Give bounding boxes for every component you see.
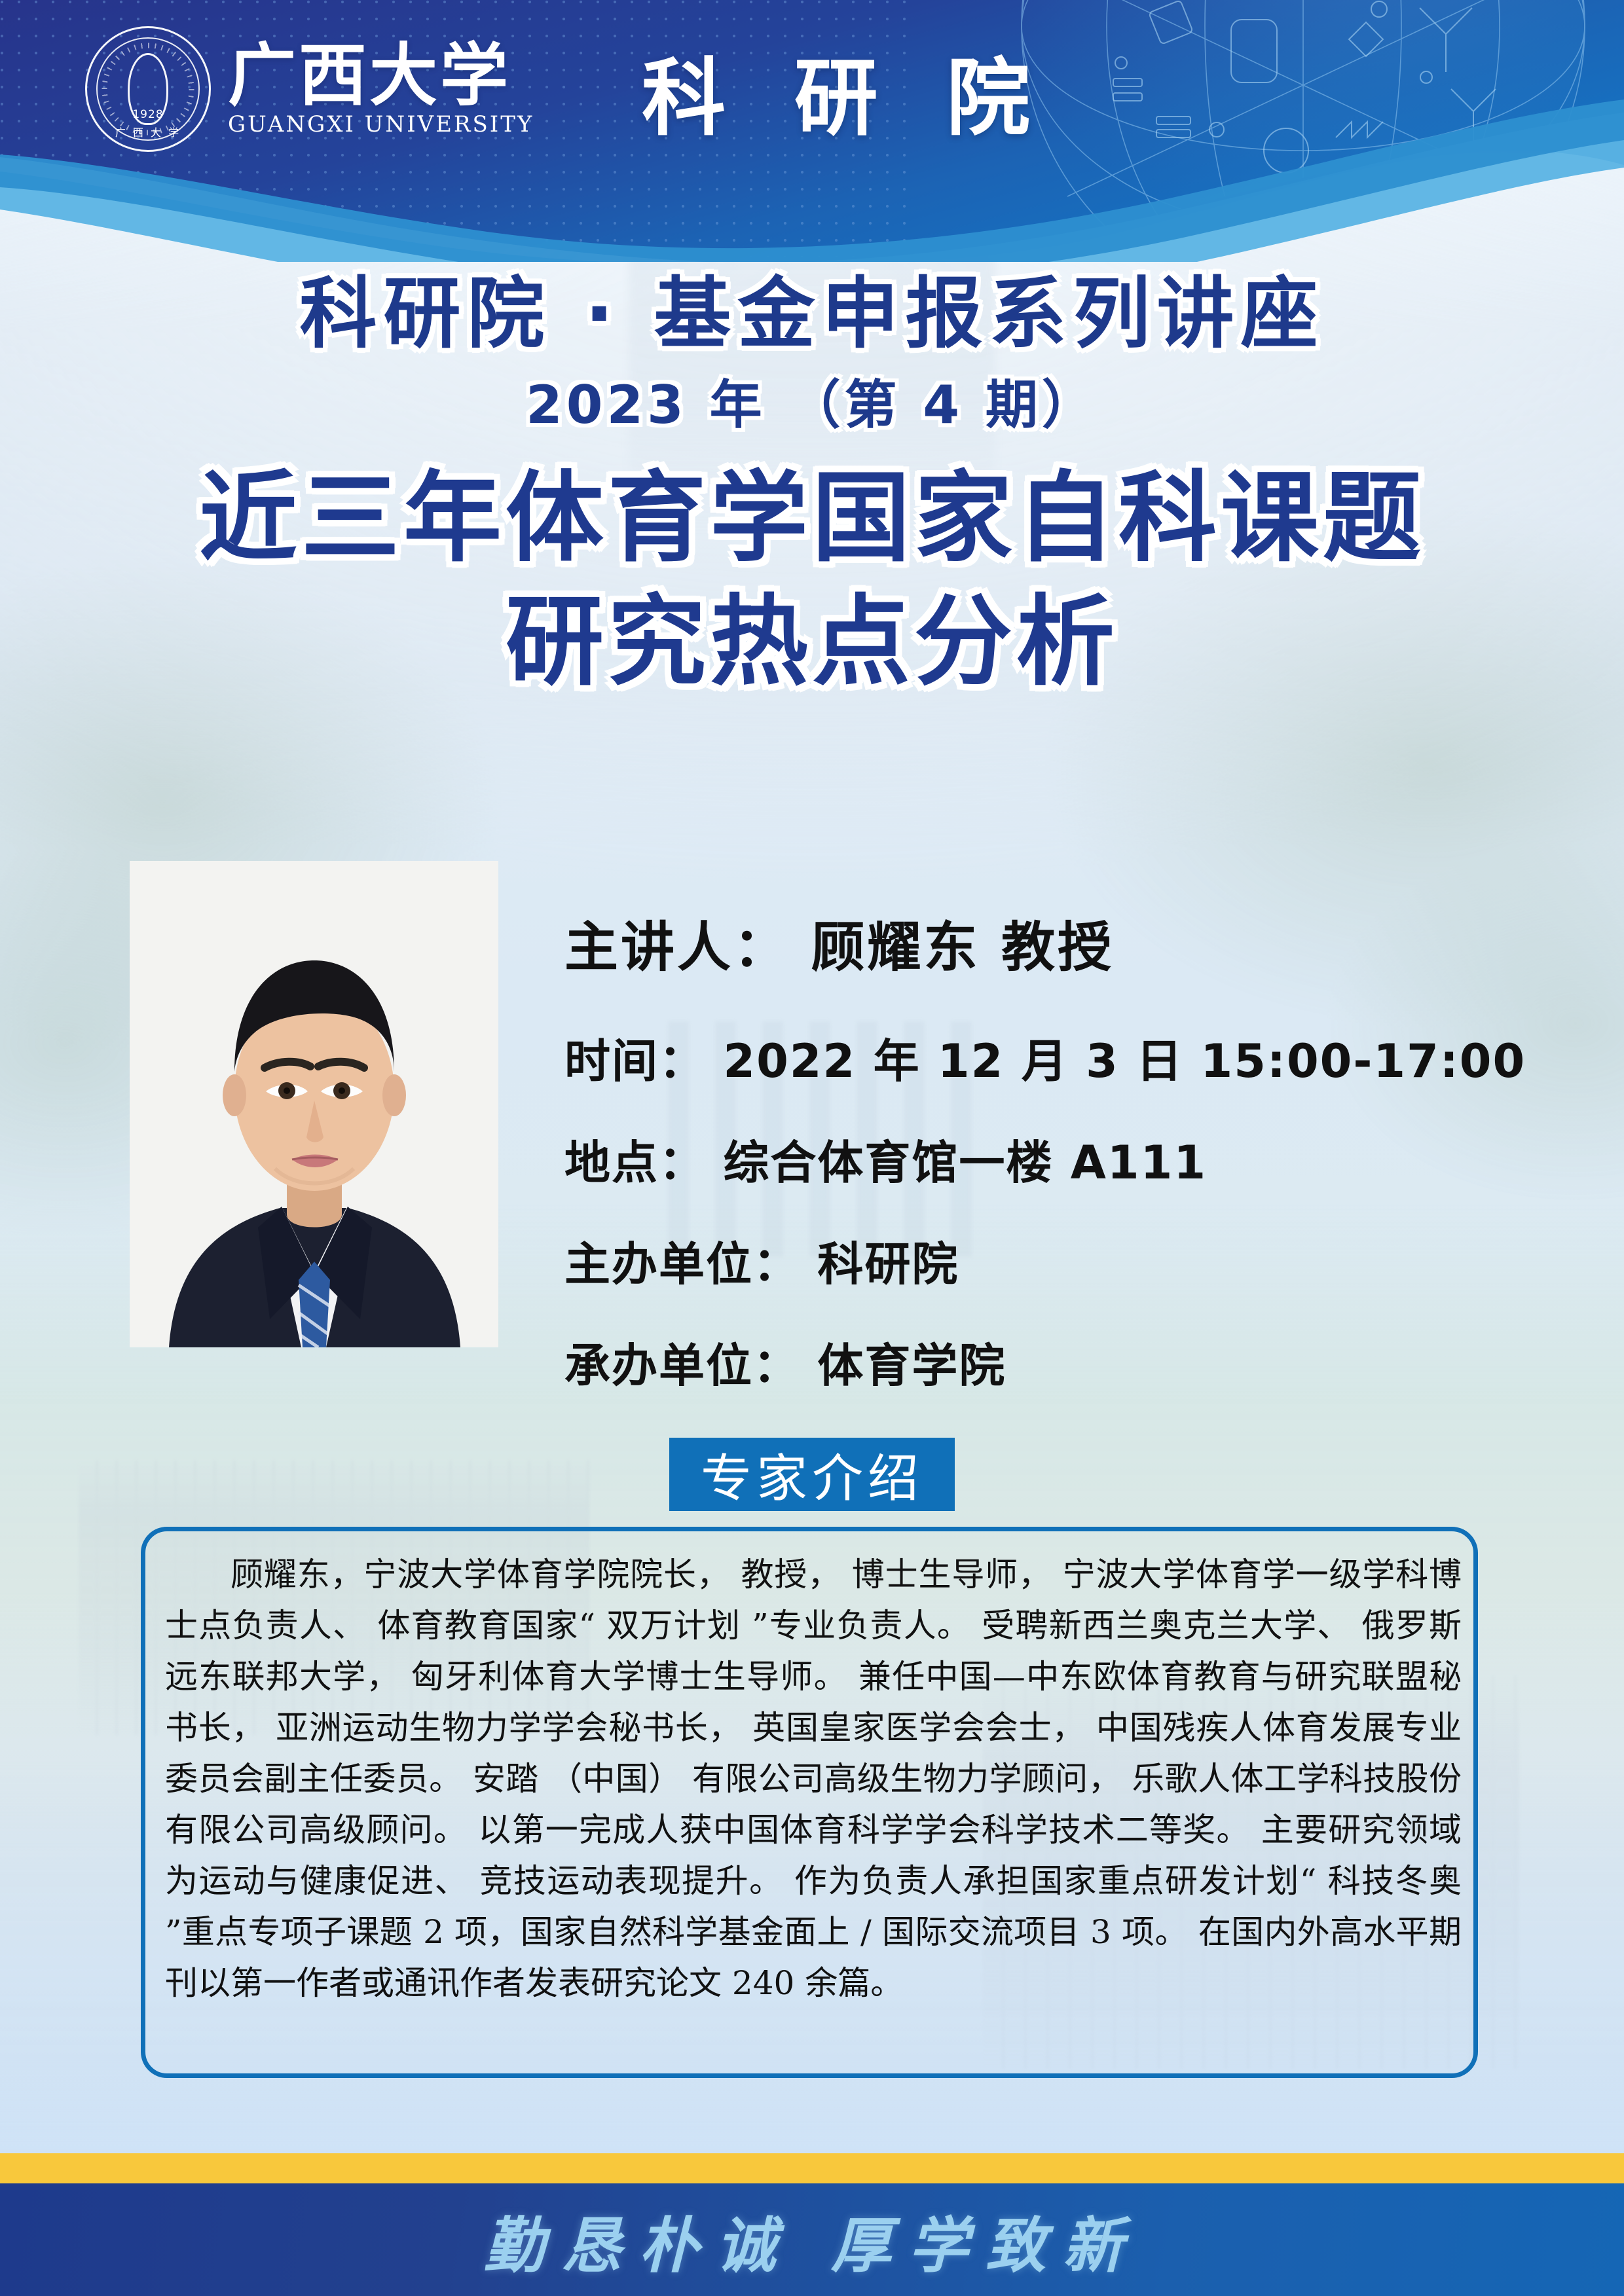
issue-number: 2023 年 （第 4 期） [0,374,1624,437]
event-time-row: 时间： 2022 年 12 月 3 日 15:00-17:00 [564,1025,1494,1091]
poster-header: 1928 广 西 大 学 广西大学 GUANGXI UNIVERSITY 科 研… [0,0,1624,262]
event-organizer-row: 主办单位： 科研院 [564,1228,1494,1294]
seal-year: 1928 [132,108,163,121]
brand-unit-name: 科 研 院 [642,30,1050,151]
expert-intro-badge-label: 专家介绍 [701,1438,923,1511]
footer-accent-bar [0,2153,1624,2183]
seal-cn-label: 广 西 大 学 [115,124,181,139]
series-title: 科研院 · 基金申报系列讲座 [0,268,1624,359]
expert-intro-badge: 专家介绍 [669,1438,955,1511]
brand-lockup: 广西大学 GUANGXI UNIVERSITY [228,41,534,137]
university-seal-icon: 1928 广 西 大 学 [85,26,211,152]
university-logo: 1928 广 西 大 学 广西大学 GUANGXI UNIVERSITY [85,26,534,152]
brand-name-cn: 广西大学 [228,41,534,110]
university-motto: 勤恳朴诚 厚学致新 [0,2197,1624,2284]
poster-root: 1928 广 西 大 学 广西大学 GUANGXI UNIVERSITY 科 研… [0,0,1624,2296]
main-title-line2: 研究热点分析 [0,583,1624,702]
title-block: 科研院 · 基金申报系列讲座 2023 年 （第 4 期） 近三年体育学国家自科… [0,268,1624,702]
event-location-row: 地点： 综合体育馆一楼 A111 [564,1126,1494,1192]
speaker-name-line: 主讲人： 顾耀东 教授 [564,903,1494,981]
expert-bio-text: 顾耀东，宁波大学体育学院院长， 教授， 博士生导师， 宁波大学体育学一级学科博士… [165,1549,1462,2009]
main-title-line1: 近三年体育学国家自科课题 [0,459,1624,579]
expert-bio-paragraph: 顾耀东，宁波大学体育学院院长， 教授， 博士生导师， 宁波大学体育学一级学科博士… [165,1549,1462,2009]
brand-name-en: GUANGXI UNIVERSITY [228,111,534,137]
event-details: 主讲人： 顾耀东 教授 时间： 2022 年 12 月 3 日 15:00-17… [564,903,1494,1395]
speaker-portrait-photo [130,861,498,1347]
event-host-row: 承办单位： 体育学院 [564,1329,1494,1395]
